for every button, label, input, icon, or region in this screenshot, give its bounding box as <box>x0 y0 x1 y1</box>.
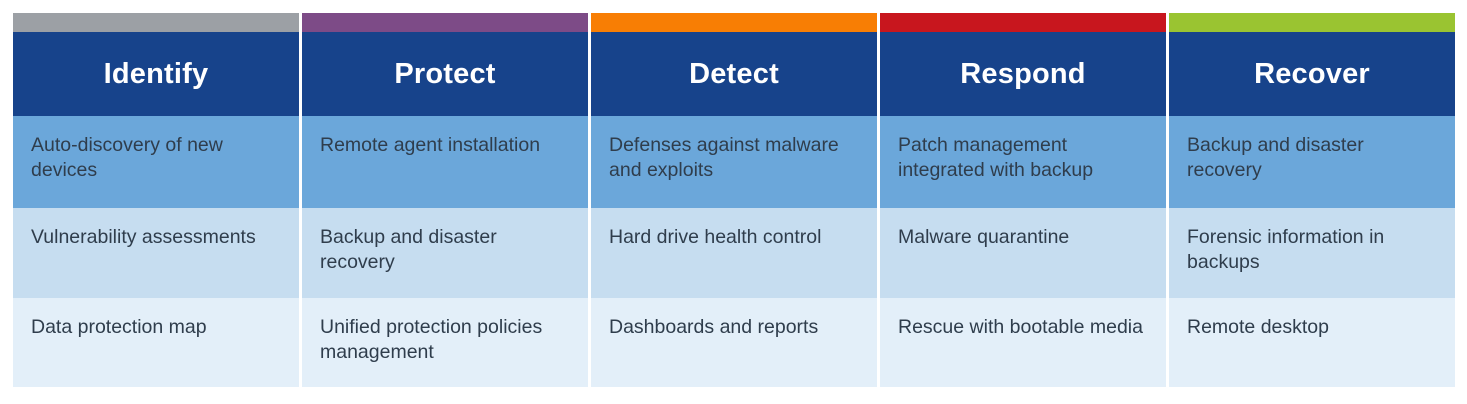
table-cell: Hard drive health control <box>591 208 877 298</box>
column-header-identify[interactable]: Identify <box>13 32 299 116</box>
cell-text: Remote desktop <box>1187 315 1439 340</box>
table-cell: Backup and disaster recovery <box>1169 116 1455 208</box>
accent-bar-respond <box>880 13 1166 32</box>
cell-text: Hard drive health control <box>609 225 861 250</box>
table-cell: Dashboards and reports <box>591 298 877 387</box>
table-cell: Remote desktop <box>1169 298 1455 387</box>
cell-text: Data protection map <box>31 315 283 340</box>
cell-text: Patch management integrated with backup <box>898 133 1150 183</box>
table-cell: Auto-discovery of new devices <box>13 116 299 208</box>
column-header-respond[interactable]: Respond <box>880 32 1166 116</box>
cell-text: Backup and disaster recovery <box>320 225 572 275</box>
accent-bar-identify <box>13 13 299 32</box>
table-cell: Rescue with bootable media <box>880 298 1166 387</box>
column-header-detect[interactable]: Detect <box>591 32 877 116</box>
cell-text: Defenses against malware and exploits <box>609 133 861 183</box>
table-cell: Forensic information in backups <box>1169 208 1455 298</box>
cell-text: Malware quarantine <box>898 225 1150 250</box>
cell-text: Dashboards and reports <box>609 315 861 340</box>
cell-text: Rescue with bootable media <box>898 315 1150 340</box>
cybersecurity-framework-table: Identify Protect Detect Respond Recover … <box>13 13 1455 390</box>
accent-bar-detect <box>591 13 877 32</box>
cell-text: Forensic information in backups <box>1187 225 1439 275</box>
column-header-label: Identify <box>104 60 209 89</box>
column-header-label: Detect <box>689 60 779 89</box>
table-cell: Defenses against malware and exploits <box>591 116 877 208</box>
cell-text: Vulnerability assessments <box>31 225 283 250</box>
table-row: Data protection map Unified protection p… <box>13 298 1455 387</box>
cell-text: Remote agent installation <box>320 133 572 158</box>
table-cell: Backup and disaster recovery <box>302 208 588 298</box>
table-header-row: Identify Protect Detect Respond Recover <box>13 32 1455 116</box>
table-cell: Vulnerability assessments <box>13 208 299 298</box>
accent-color-strip <box>13 13 1455 32</box>
column-header-label: Protect <box>394 60 495 89</box>
cell-text: Backup and disaster recovery <box>1187 133 1439 183</box>
accent-bar-recover <box>1169 13 1455 32</box>
table-cell: Malware quarantine <box>880 208 1166 298</box>
table-cell: Patch management integrated with backup <box>880 116 1166 208</box>
column-header-label: Respond <box>960 60 1085 89</box>
table-cell: Remote agent installation <box>302 116 588 208</box>
table-cell: Unified protection policies management <box>302 298 588 387</box>
cell-text: Auto-discovery of new devices <box>31 133 283 183</box>
table-cell: Data protection map <box>13 298 299 387</box>
table-row: Auto-discovery of new devices Remote age… <box>13 116 1455 208</box>
table-row: Vulnerability assessments Backup and dis… <box>13 208 1455 298</box>
accent-bar-protect <box>302 13 588 32</box>
cell-text: Unified protection policies management <box>320 315 572 365</box>
column-header-recover[interactable]: Recover <box>1169 32 1455 116</box>
column-header-protect[interactable]: Protect <box>302 32 588 116</box>
column-header-label: Recover <box>1254 60 1370 89</box>
